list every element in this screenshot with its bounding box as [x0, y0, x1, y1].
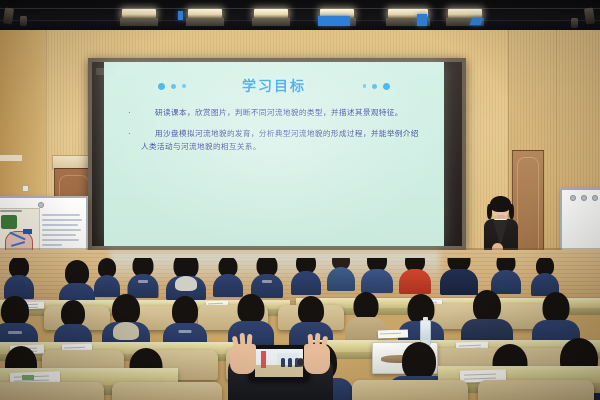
decor-dot-icon [182, 84, 186, 88]
slide-bullet-text: 用沙盘模拟河流地貌的发育，分析典型河流地貌的形成过程，并能举例介绍人类活动与河流… [141, 127, 426, 153]
right-hand [304, 344, 330, 374]
decor-dots-right [363, 83, 391, 90]
phone-screen-figure [281, 358, 285, 367]
student [292, 258, 320, 294]
ceiling-speaker [571, 18, 578, 28]
whiteboard-text-line [42, 214, 80, 216]
slide-bullet: · 用沙盘模拟河流地貌的发育，分析典型河流地貌的形成过程，并能举例介绍人类活动与… [128, 127, 426, 153]
whiteboard-text-line [42, 219, 82, 221]
student [362, 258, 392, 292]
student [56, 300, 90, 348]
ceiling-accent-light [178, 11, 183, 20]
student [94, 258, 120, 296]
student-head [473, 290, 501, 322]
wall-seam [556, 30, 557, 280]
wall-trim [0, 155, 22, 161]
bullet-marker-icon: · [128, 106, 141, 119]
ceiling-light [254, 9, 288, 18]
finger [315, 333, 321, 346]
decor-dot-icon [171, 84, 176, 89]
finger [247, 334, 253, 347]
student [492, 258, 520, 294]
student [442, 258, 476, 294]
ceiling-speaker [584, 7, 595, 24]
student [532, 258, 558, 296]
chair-back [352, 380, 468, 400]
ceiling-speaker [20, 16, 27, 26]
finger [308, 334, 314, 347]
whiteboard-text-line [42, 244, 62, 246]
map-satellite-inset [1, 215, 17, 229]
smartphone[interactable] [248, 345, 310, 381]
light-switch[interactable] [22, 185, 29, 192]
magnet-icon [581, 195, 587, 201]
worksheet [378, 329, 408, 338]
student-head [543, 292, 570, 323]
phone-screen-figure [288, 358, 292, 367]
student [214, 258, 242, 296]
ceiling-beam [0, 8, 600, 9]
slide-title: 学习目标 [242, 76, 306, 96]
student [128, 258, 158, 296]
ceiling [0, 0, 600, 34]
ceiling-light [122, 9, 156, 18]
student-hood [113, 322, 139, 340]
decor-dot-icon [383, 83, 390, 90]
map-title [0, 210, 22, 212]
student-head [172, 296, 198, 326]
ceiling-beam [0, 20, 600, 21]
student [328, 258, 354, 292]
magnet-icon [570, 195, 576, 201]
finger [240, 333, 246, 346]
student-head [402, 342, 436, 380]
bullet-marker-icon: · [128, 127, 141, 140]
whiteboard-text-line [42, 239, 79, 241]
decor-dot-icon [363, 84, 367, 88]
student-head [112, 294, 140, 325]
worksheet-graphic [22, 375, 34, 380]
student-head [354, 292, 379, 320]
chair-back [478, 380, 594, 400]
teacher-hair [490, 196, 511, 212]
decor-dot-icon [158, 83, 165, 90]
classroom-photo: 学习目标 · 研读课本，欣赏图片，判断不同河流地貌的类型，并描述其景观特征。 ·… [0, 0, 600, 400]
student-uniform [327, 267, 355, 291]
student [4, 258, 34, 296]
map-legend-box [23, 229, 32, 234]
ceiling-light [448, 9, 482, 18]
slide-header: 学习目标 [104, 76, 444, 96]
phone-screen-figure [261, 351, 266, 368]
student [168, 258, 204, 298]
presentation-slide[interactable]: 学习目标 · 研读课本，欣赏图片，判断不同河流地貌的类型，并描述其景观特征。 ·… [104, 62, 444, 246]
student-head [238, 294, 265, 324]
whiteboard-text-line [42, 229, 81, 231]
student-head [61, 300, 85, 327]
ceiling-accent-light [417, 14, 427, 26]
slide-body: · 研读课本，欣赏图片，判断不同河流地貌的类型，并描述其景观特征。 · 用沙盘模… [128, 106, 426, 161]
decor-dot-icon [372, 84, 377, 89]
chair-back [112, 382, 222, 400]
person-recording [216, 330, 346, 400]
whiteboard-text-line [42, 234, 76, 236]
slide-bullet: · 研读课本，欣赏图片，判断不同河流地貌的类型，并描述其景观特征。 [128, 106, 426, 119]
decor-dots-left [158, 83, 186, 90]
ceiling-accent-light [318, 16, 350, 26]
whiteboard-text-line [42, 224, 78, 226]
student [400, 258, 430, 294]
student-uniform [361, 269, 393, 293]
ceiling-speaker [3, 7, 14, 24]
student-head [298, 296, 324, 325]
chair-back [0, 382, 104, 400]
slide-bullet-text: 研读课本，欣赏图片，判断不同河流地貌的类型，并描述其景观特征。 [141, 106, 403, 119]
magnet-icon [592, 195, 598, 201]
student-hood [175, 276, 197, 291]
ceiling-light [188, 9, 222, 18]
student-head [1, 296, 29, 326]
student [252, 258, 282, 296]
student [60, 260, 94, 302]
student-uniform-red [399, 269, 431, 294]
student [0, 296, 34, 348]
student-uniform [291, 271, 321, 295]
